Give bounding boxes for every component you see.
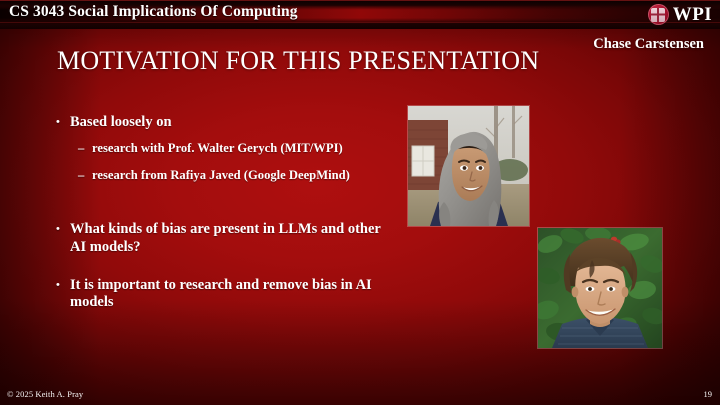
photo-rafiya-javed-image [408,106,529,226]
list-item: • It is important to research and remove… [56,277,386,312]
wpi-wordmark: WPI [673,5,712,24]
wpi-seal-icon [648,4,669,25]
list-item: • Based loosely on [56,114,386,132]
list-item: – research with Prof. Walter Gerych (MIT… [78,141,366,156]
wpi-logo: WPI [648,2,712,27]
list-item-label: research from Rafiya Javed (Google DeepM… [92,168,366,183]
footer-copyright: © 2025 Keith A. Pray [7,389,83,399]
slide-body: • Based loosely on – research with Prof.… [56,114,386,318]
list-item-label: Based loosely on [70,114,386,132]
bullet-marker: • [56,114,70,131]
list-spacer [56,263,386,277]
photo-rafiya-javed [408,106,529,226]
footer-page-number: 19 [704,389,713,399]
course-title: CS 3043 Social Implications Of Computing [9,3,298,21]
presentation-slide: CS 3043 Social Implications Of Computing… [0,0,720,405]
photo-chase-carstensen-image [538,228,662,348]
list-item: – research from Rafiya Javed (Google Dee… [78,168,366,183]
bullet-marker: – [78,141,92,156]
photo-chase-carstensen [538,228,662,348]
list-item-label: What kinds of bias are present in LLMs a… [70,221,386,256]
bullet-marker: • [56,277,70,294]
page-title: MOTIVATION FOR THIS PRESENTATION [57,46,539,76]
presenter-name: Chase Carstensen [593,36,704,53]
list-item-label: It is important to research and remove b… [70,277,386,312]
header-bottom-rule [0,22,720,23]
list-item-label: research with Prof. Walter Gerych (MIT/W… [92,141,366,156]
bullet-marker: – [78,168,92,183]
list-item: • What kinds of bias are present in LLMs… [56,221,386,256]
header-top-rule [0,0,720,1]
bullet-marker: • [56,221,70,238]
list-spacer [56,191,386,221]
